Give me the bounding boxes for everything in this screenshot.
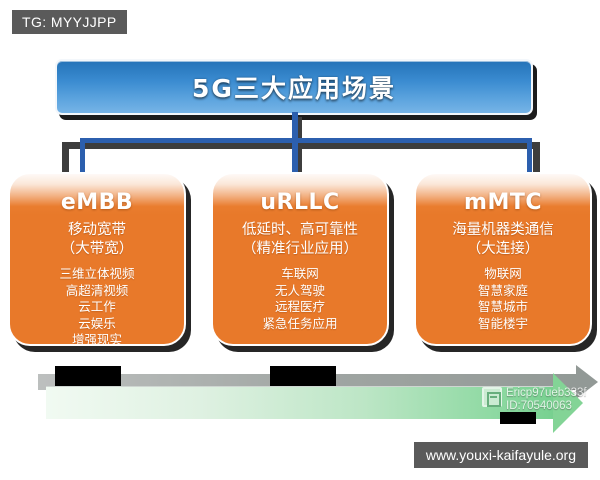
scenario-card-embb[interactable]: eMBB 移动宽带 （大带宽） 三维立体视频 高超清视频 云工作 云娱乐 增强现… [8, 172, 186, 346]
title-panel: 5G三大应用场景 [55, 59, 533, 115]
redaction-block-right [500, 412, 536, 424]
watermark-line-1: Ericp97ueb333f [506, 387, 587, 400]
document-note-icon [482, 387, 502, 407]
card-subtitle: 低延时、高可靠性 （精准行业应用） [242, 221, 358, 259]
card-body: mMTC 海量机器类通信 （大连接） 物联网 智慧家庭 智慧城市 智能楼宇 [414, 172, 592, 346]
scenario-card-mmtc[interactable]: mMTC 海量机器类通信 （大连接） 物联网 智慧家庭 智慧城市 智能楼宇 [414, 172, 592, 346]
card-subtitle: 移动宽带 （大带宽） [61, 221, 134, 259]
page-title: 5G三大应用场景 [192, 69, 396, 105]
card-item-list: 车联网 无人驾驶 远程医疗 紧急任务应用 [262, 266, 337, 332]
redaction-block-mid [270, 366, 336, 386]
connector-drop-right [527, 138, 532, 174]
diagram-canvas: TG: MYYJJPP 5G三大应用场景 eMBB 移动宽带 （大带宽） 三维立… [0, 0, 600, 480]
card-subtitle: 海量机器类通信 （大连接） [452, 221, 554, 259]
card-title: mMTC [464, 190, 542, 215]
site-url-label: www.youxi-kaifayule.org [414, 442, 588, 468]
connector-drop-right-shadow [533, 142, 540, 176]
connector-drop-mid [292, 138, 298, 174]
connector-bar [80, 138, 532, 143]
timeline-arrow [46, 386, 556, 419]
connector-drop-left [80, 138, 85, 174]
watermark-line-2: ID:70540063 [506, 400, 587, 413]
watermark: Ericp97ueb333f ID:70540063 [482, 387, 587, 413]
card-title: eMBB [61, 190, 133, 215]
redaction-block-left [55, 366, 121, 386]
card-body: uRLLC 低延时、高可靠性 （精准行业应用） 车联网 无人驾驶 远程医疗 紧急… [211, 172, 389, 346]
card-title: uRLLC [260, 190, 339, 215]
card-item-list: 三维立体视频 高超清视频 云工作 云娱乐 增强现实 [59, 266, 134, 346]
watermark-lines: Ericp97ueb333f ID:70540063 [506, 387, 587, 413]
diagram-title-box: 5G三大应用场景 [55, 59, 533, 115]
card-item-list: 物联网 智慧家庭 智慧城市 智能楼宇 [478, 266, 528, 332]
card-body: eMBB 移动宽带 （大带宽） 三维立体视频 高超清视频 云工作 云娱乐 增强现… [8, 172, 186, 346]
connector-drop-left-shadow [62, 142, 69, 176]
tg-tag: TG: MYYJJPP [12, 10, 127, 34]
scenario-card-urllc[interactable]: uRLLC 低延时、高可靠性 （精准行业应用） 车联网 无人驾驶 远程医疗 紧急… [211, 172, 389, 346]
